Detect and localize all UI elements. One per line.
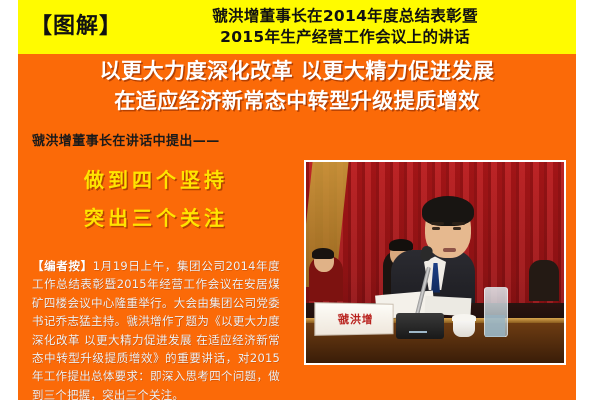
teacup-lid xyxy=(452,314,476,321)
header-band: 【图解】 虢洪增董事长在2014年度总结表彰暨 2015年生产经营工作会议上的讲… xyxy=(18,0,576,54)
slogan-item-2: 突出三个关注 xyxy=(32,199,280,237)
water-glass-fill xyxy=(485,315,505,337)
headline-line-2: 在适应经济新常态中转型升级提质增效 xyxy=(18,86,576,116)
poster-container: 【图解】 虢洪增董事长在2014年度总结表彰暨 2015年生产经营工作会议上的讲… xyxy=(18,0,576,400)
header-title-line-2: 2015年生产经营工作会议上的讲话 xyxy=(132,27,558,48)
microphone-base xyxy=(396,313,444,339)
editor-note-label: 【编者按】 xyxy=(32,259,93,273)
left-column: 做到四个坚持 突出三个关注 【编者按】1月19日上午，集团公司2014年度工作总… xyxy=(32,155,280,400)
speaker-hair xyxy=(422,196,474,226)
speaker-mouth xyxy=(443,248,456,252)
speaker-nameplate-text: 虢洪增 xyxy=(338,311,374,327)
speaker-eyebrow-left xyxy=(431,222,444,225)
speech-photo-frame: 虢洪增 xyxy=(304,160,566,365)
header-title-line-1: 虢洪增董事长在2014年度总结表彰暨 xyxy=(132,6,558,27)
body-paragraph-text: 1月19日上午，集团公司2014年度工作总结表彰暨2015年经营工作会议在安居煤… xyxy=(32,259,280,400)
slogan-list: 做到四个坚持 突出三个关注 xyxy=(32,155,280,237)
speaker-eyebrow-right xyxy=(452,222,465,225)
speech-photo: 虢洪增 xyxy=(306,162,564,363)
headline-block: 以更大力度深化改革 以更大精力促进发展 在适应经济新常态中转型升级提质增效 xyxy=(18,56,576,117)
body-paragraph: 【编者按】1月19日上午，集团公司2014年度工作总结表彰暨2015年经营工作会… xyxy=(32,257,280,400)
speaker-eye-right xyxy=(453,227,461,230)
attendee-right-body xyxy=(529,260,559,300)
header-tag-label: 【图解】 xyxy=(30,16,132,38)
headline-line-1: 以更大力度深化改革 以更大精力促进发展 xyxy=(18,56,576,86)
lead-in-text: 虢洪增董事长在讲话中提出—— xyxy=(32,130,220,149)
attendee-left-hair xyxy=(312,248,334,259)
header-title: 虢洪增董事长在2014年度总结表彰暨 2015年生产经营工作会议上的讲话 xyxy=(132,6,576,48)
speaker-nameplate: 虢洪增 xyxy=(315,302,394,336)
slogan-item-1: 做到四个坚持 xyxy=(32,161,280,199)
microphone-indicator xyxy=(409,331,427,333)
